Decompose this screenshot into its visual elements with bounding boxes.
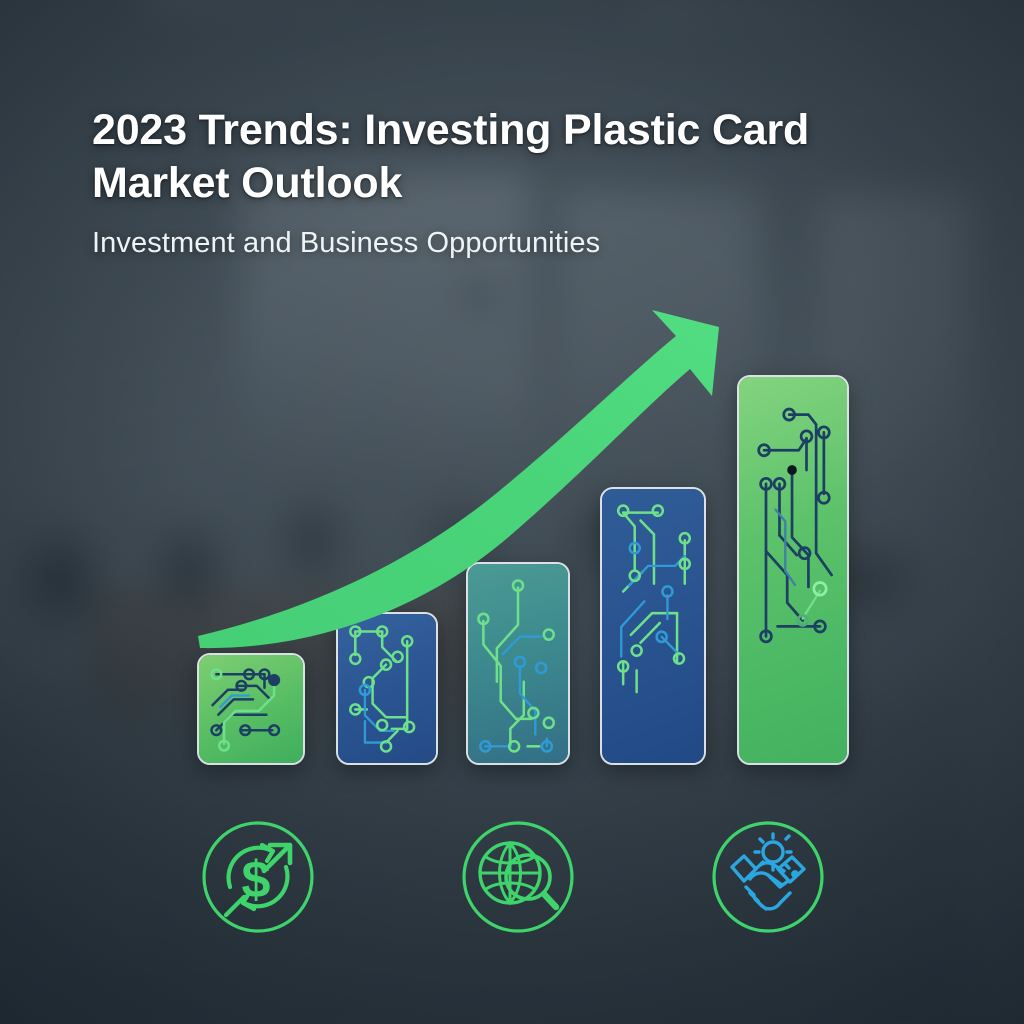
chart-bar-5 xyxy=(737,375,849,765)
roi-dollar-cycle-icon[interactable]: $ xyxy=(200,819,316,935)
partnership-handshake-icon[interactable] xyxy=(710,819,826,935)
svg-text:$: $ xyxy=(242,851,271,909)
circuit-pattern-4 xyxy=(602,489,704,763)
chart-bar-1 xyxy=(197,653,305,765)
circuit-pattern-2 xyxy=(338,614,436,763)
chart-bar-2 xyxy=(336,612,438,765)
circuit-pattern-3 xyxy=(468,564,568,763)
chart-bar-3 xyxy=(466,562,570,765)
global-market-research-icon[interactable] xyxy=(460,819,576,935)
chart-bar-4 xyxy=(600,487,706,765)
infographic-canvas: 2023 Trends: Investing Plastic Card Mark… xyxy=(0,0,1024,1024)
circuit-pattern-1 xyxy=(199,655,303,763)
circuit-pattern-5 xyxy=(739,377,847,763)
